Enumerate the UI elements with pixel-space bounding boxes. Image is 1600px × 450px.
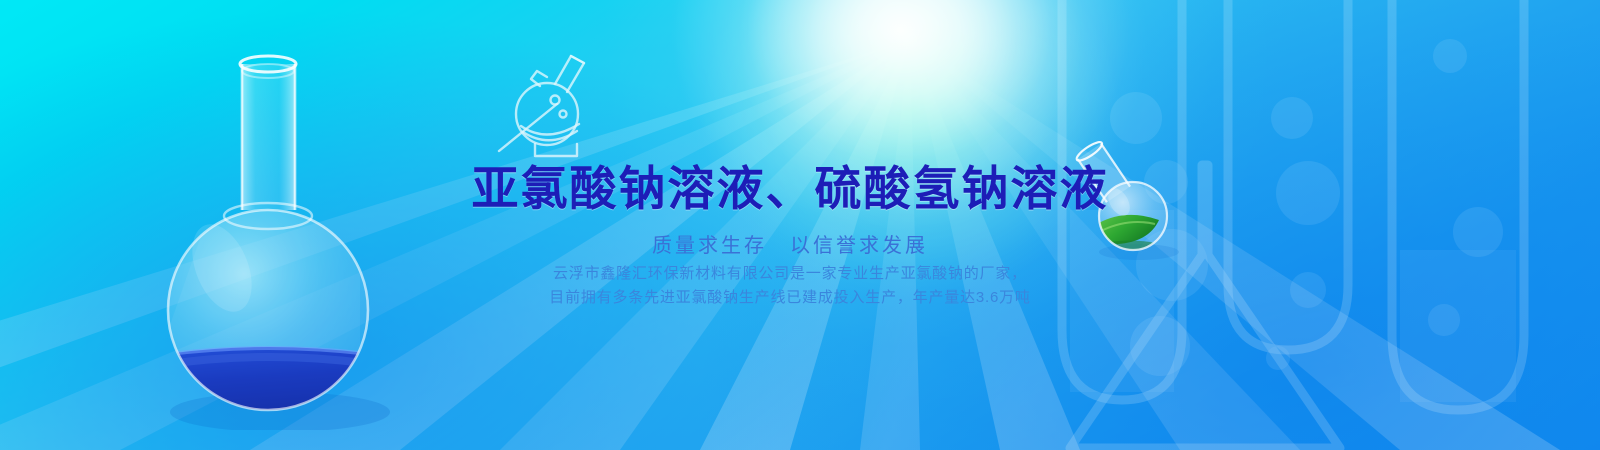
promo-banner: 亚氯酸钠溶液、硫酸氢钠溶液 质量求生存 以信誉求发展 云浮市鑫隆汇环保新材料有限… (0, 0, 1600, 450)
bottom-left-blue-wash (0, 10, 860, 450)
banner-text-block: 亚氯酸钠溶液、硫酸氢钠溶液 质量求生存 以信誉求发展 云浮市鑫隆汇环保新材料有限… (0, 0, 1600, 450)
test-tube-outline-2 (1228, 0, 1348, 350)
test-tube-outline-3 (1392, 0, 1524, 410)
test-tube-fill-3 (1400, 250, 1516, 402)
bubble-circles (1110, 39, 1503, 376)
sunburst-rays (0, 0, 1600, 450)
mint-tint-glow (700, 0, 1120, 300)
round-bottom-flask-outline-icon (485, 48, 605, 158)
banner-title: 亚氯酸钠溶液、硫酸氢钠溶液 (0, 150, 1590, 219)
tilted-flask-green-leaf (1055, 120, 1185, 265)
banner-subtitle: 质量求生存 以信誉求发展 (0, 229, 1590, 258)
test-tube-outline-1 (1062, 0, 1182, 400)
center-white-core-glow (670, 0, 1130, 230)
banner-body-line-2: 目前拥有多条先进亚氯酸钠生产线已建成投入生产，年产量达3.6万吨 (0, 286, 1590, 307)
round-bottom-flask-blue-liquid (150, 40, 390, 430)
center-white-glow (320, 0, 1500, 450)
bottom-right-blue-wash (700, 0, 1600, 450)
test-tube-fill-1 (1070, 210, 1174, 392)
glassware-outline-decor (1040, 0, 1600, 450)
banner-body-line-1: 云浮市鑫隆汇环保新材料有限公司是一家专业生产亚氯酸钠的厂家， (0, 262, 1590, 283)
erlenmeyer-flask-outline (1070, 165, 1340, 448)
